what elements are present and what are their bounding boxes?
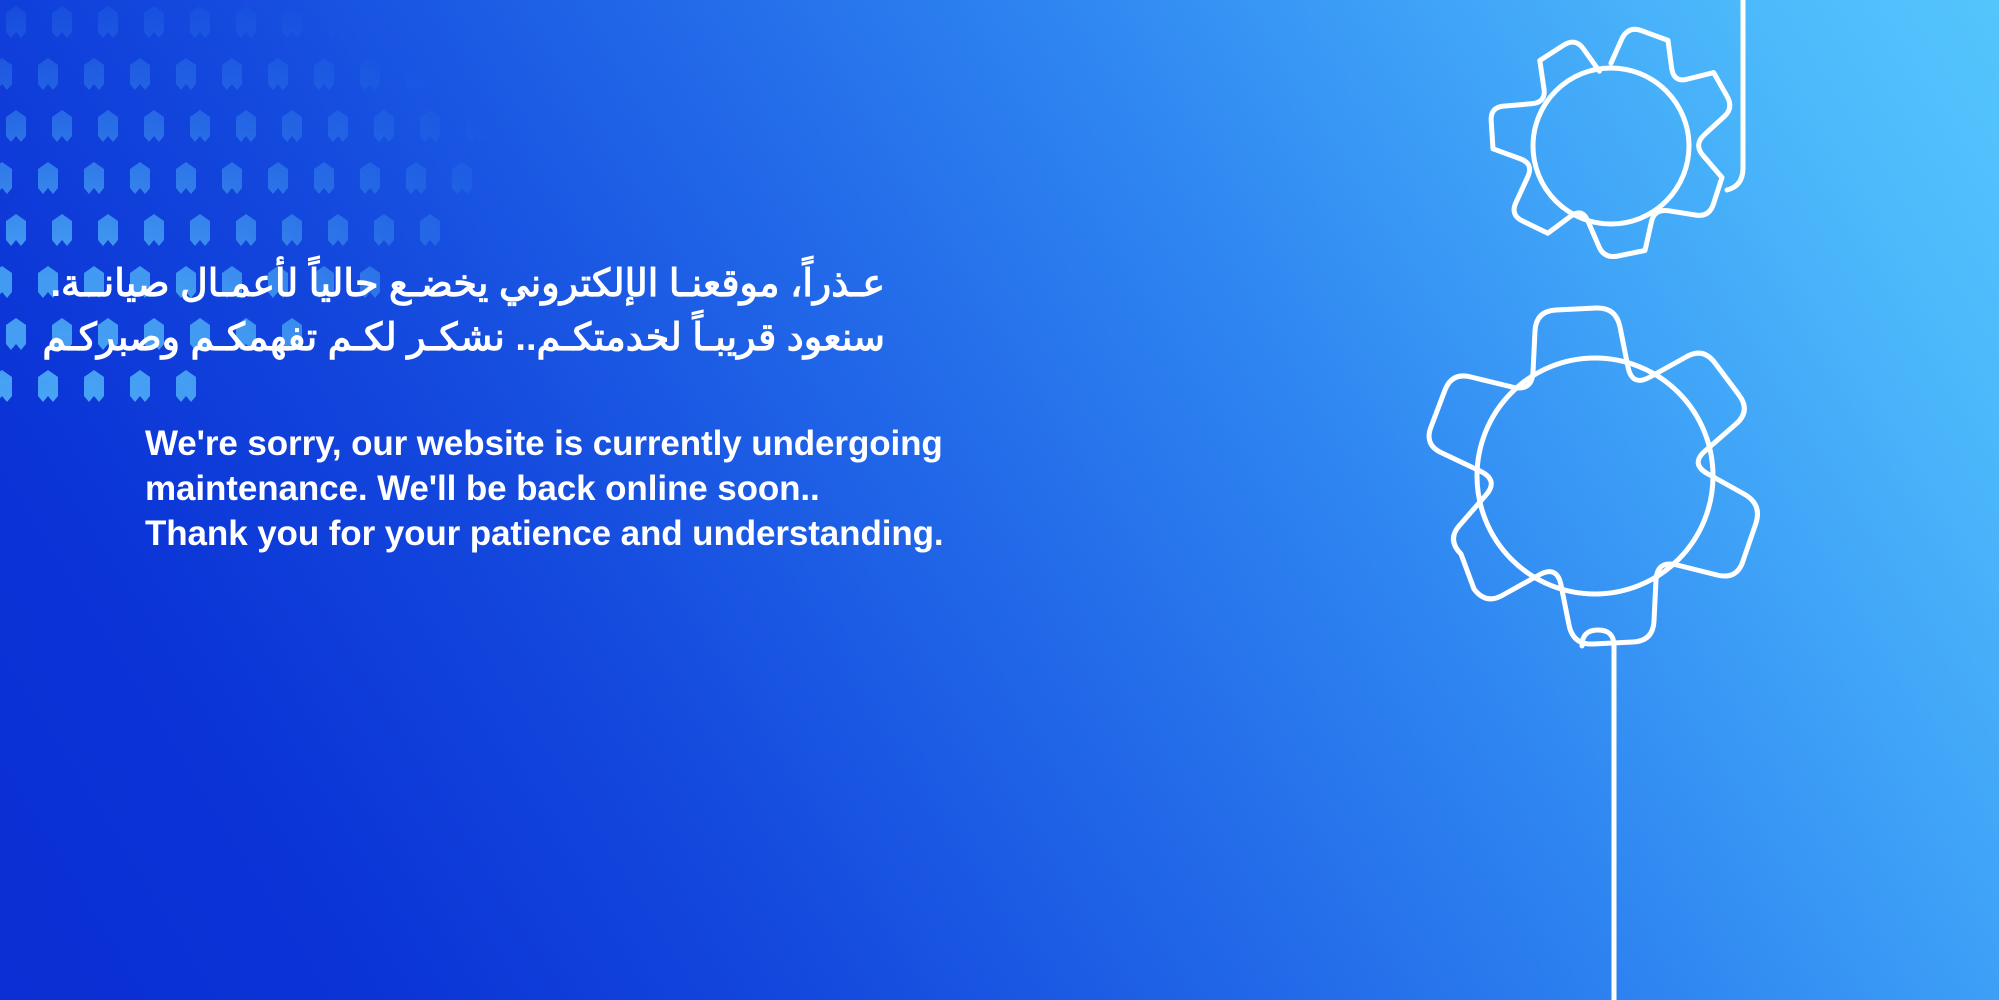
small-gear-outline xyxy=(1491,29,1730,256)
english-line-1: We're sorry, our website is currently un… xyxy=(145,422,1045,467)
maintenance-page: عـذراً، موقعنـا الإلكتروني يخضـع حالياً … xyxy=(0,0,1999,1000)
gear-illustration xyxy=(1179,0,1999,1000)
arabic-line-2: سنعود قريبـاً لخدمتكـم.. نشكـر لكـم تفهم… xyxy=(145,312,885,366)
large-gear xyxy=(1401,0,1758,644)
large-gear-outline-final xyxy=(1429,308,1757,644)
english-message: We're sorry, our website is currently un… xyxy=(145,422,1045,556)
large-gear-inner-circle xyxy=(1477,358,1713,594)
english-line-3: Thank you for your patience and understa… xyxy=(145,512,1045,557)
english-line-2: maintenance. We'll be back online soon.. xyxy=(145,467,1045,512)
arabic-message: عـذراً، موقعنـا الإلكتروني يخضـع حالياً … xyxy=(145,258,885,366)
small-gear-inner-circle xyxy=(1533,68,1689,224)
message-block: عـذراً، موقعنـا الإلكتروني يخضـع حالياً … xyxy=(145,258,1045,556)
top-connector-line xyxy=(1727,0,1743,190)
arabic-line-1: عـذراً، موقعنـا الإلكتروني يخضـع حالياً … xyxy=(145,258,885,312)
bottom-connector-line xyxy=(1582,630,1614,1000)
small-gear xyxy=(1437,0,1857,257)
